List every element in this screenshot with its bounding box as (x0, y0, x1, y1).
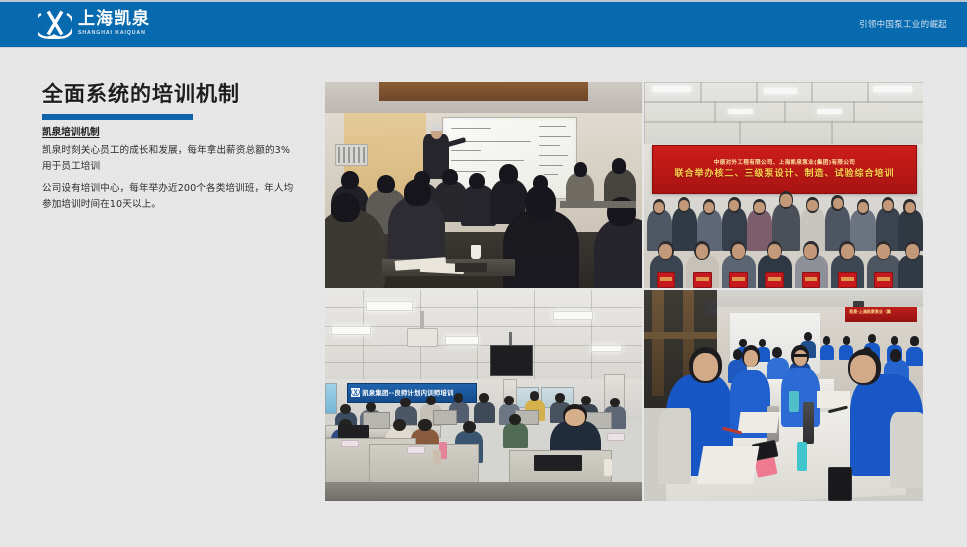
photo4-red-banner: 凯泉-上海凯泉泵业（集 (845, 307, 918, 322)
photo3-floor (325, 482, 642, 501)
photo3-nameplate (407, 446, 425, 453)
photo-grid: 中原对外工程有限公司、上海凯泉泵业(集团)有限公司 联合举办核二、三级泵设计、制… (325, 82, 923, 503)
company-logo: 上海凯泉 SHANGHAI KAIQUAN (38, 8, 150, 40)
photo3-monitor (433, 410, 457, 425)
photo4-phone (828, 467, 852, 501)
photo4-handout (737, 412, 779, 433)
photo3-ceiling-lamp (366, 301, 412, 311)
photo3-banner-text: 凯泉集团--良师计划内训师培训 (362, 388, 453, 397)
photo4-eyeglasses (794, 354, 808, 357)
body-text-block: 凯泉培训机制 凯泉时刻关心员工的成长和发展，每年拿出薪资总额的3%用于员工培训 … (42, 126, 298, 220)
photo3-tv-mount (509, 332, 512, 345)
photo2-ceiling-light (873, 86, 912, 92)
photo3-side-poster (325, 383, 337, 415)
photo-classroom-lecture (325, 82, 642, 288)
photo1-paper-cup (471, 245, 481, 259)
header-slogan: 引领中国泵工业的崛起 (859, 0, 947, 47)
photo3-ceiling-lamp (591, 345, 622, 352)
photo1-wall-panel (335, 144, 369, 167)
photo3-bottle (604, 459, 612, 476)
photo2-banner-line-2: 联合举办核二、三级泵设计、制造、试验综合培训 (674, 168, 894, 180)
photo4-handout (696, 446, 758, 484)
header-top-hairline (0, 0, 967, 2)
photo2-ceiling-light (764, 88, 797, 94)
photo3-projector (407, 328, 438, 347)
page-title: 全面系统的培训机制 (42, 83, 312, 106)
photo4-pink-powerbank (754, 457, 777, 478)
body-paragraph-1: 凯泉时刻关心员工的成长和发展，每年拿出薪资总额的3%用于员工培训 (42, 143, 298, 174)
photo-internal-trainer-class: 凯泉集团--良师计划内训师培训 (325, 290, 642, 501)
slide-root: 上海凯泉 SHANGHAI KAIQUAN 引领中国泵工业的崛起 全面系统的培训… (0, 0, 967, 547)
photo3-nameplate (607, 433, 625, 440)
photo-nuclear-pump-group: 中原对外工程有限公司、上海凯泉泵业(集团)有限公司 联合举办核二、三级泵设计、制… (644, 82, 923, 288)
title-underline-rule (42, 114, 193, 120)
photo3-ceiling-lamp (553, 311, 593, 320)
logo-english-name: SHANGHAI KAIQUAN (78, 31, 150, 36)
photo1-wood-panel (379, 82, 588, 101)
photo1-instructor-hair (431, 125, 442, 130)
photo3-bottle (433, 450, 441, 465)
photo-workshop-staff-training: 凯泉-上海凯泉泵业（集 (644, 290, 923, 501)
photo3-wall-monitor (490, 345, 533, 377)
photo4-speaker (705, 301, 716, 316)
photo2-ceiling-light (652, 86, 691, 92)
photo3-ceiling-lamp (445, 336, 479, 344)
photo3-ceiling-lamp (331, 326, 371, 335)
photo4-thermos (789, 391, 798, 412)
logo-wordmark: 上海凯泉 SHANGHAI KAIQUAN (78, 11, 150, 36)
kaiquan-mark-icon (38, 9, 72, 39)
photo4-thermos (797, 442, 807, 472)
photo2-ceiling-light (728, 109, 753, 114)
photo2-ceiling-light (817, 109, 842, 114)
photo3-laptop (338, 425, 370, 438)
photo4-thermos (803, 402, 814, 444)
photo2-red-banner: 中原对外工程有限公司、上海凯泉泵业(集团)有限公司 联合举办核二、三级泵设计、制… (652, 145, 916, 194)
kaiquan-mark-icon (351, 388, 360, 397)
photo2-banner-line-1: 中原对外工程有限公司、上海凯泉泵业(集团)有限公司 (714, 159, 855, 167)
body-paragraph-2: 公司设有培训中心，每年举办近200个各类培训班，年人均参加培训时间在10天以上。 (42, 181, 298, 212)
logo-chinese-name: 上海凯泉 (78, 11, 150, 28)
slide-header: 上海凯泉 SHANGHAI KAIQUAN 引领中国泵工业的崛起 (0, 0, 967, 47)
photo4-banner-text: 凯泉-上海凯泉泵业（集 (849, 309, 891, 315)
title-block: 全面系统的培训机制 (42, 83, 312, 120)
section-heading: 凯泉培训机制 (42, 126, 298, 140)
photo3-laptop (534, 455, 582, 472)
photo3-nameplate (341, 440, 359, 447)
